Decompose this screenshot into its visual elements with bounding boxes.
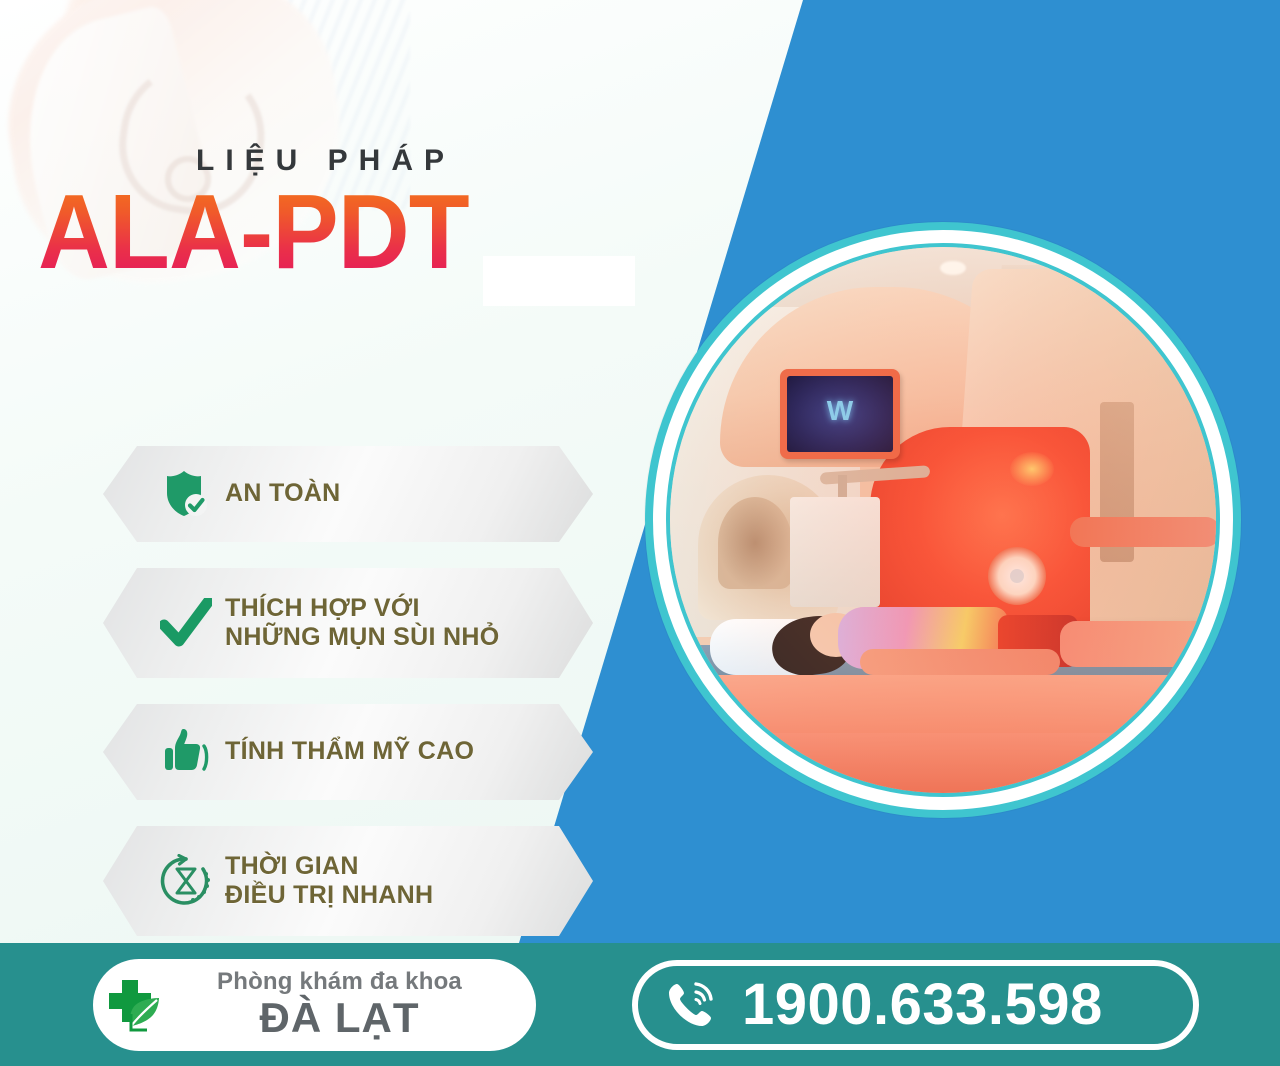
feature-badge-label: TÍNH THẨM MỸ CAO <box>225 737 474 767</box>
clinic-subtitle: Phòng khám đa khoa <box>217 969 462 995</box>
photo-machine-dome <box>720 287 1050 467</box>
headline-kicker: LIỆU PHÁP <box>196 146 660 176</box>
feature-badge-line-1: THÍCH HỢP VỚI <box>225 594 420 622</box>
shield-check-icon <box>147 469 225 519</box>
feature-badge-list: AN TOÀN THÍCH HỢP VỚI NHỮNG MỤN SÙI NHỎ <box>103 446 593 962</box>
monitor-glyph: W <box>827 395 853 427</box>
photo-patient-hair <box>768 612 853 680</box>
monitor-screen: W <box>787 376 893 452</box>
clinic-name: ĐÀ LẠT <box>260 996 420 1040</box>
photo-gantry <box>947 269 1216 649</box>
check-mark-icon <box>147 598 225 648</box>
photo-patient-torso <box>838 607 1008 669</box>
feature-badge-an-toan[interactable]: AN TOÀN <box>103 446 593 542</box>
phone-cta[interactable]: 1900.633.598 <box>632 960 1199 1050</box>
feature-badge-line-2: NHỮNG MỤN SÙI NHỎ <box>225 623 499 651</box>
photo-red-light-wash <box>670 247 1216 793</box>
phone-number: 1900.633.598 <box>742 976 1103 1034</box>
phone-call-icon <box>638 978 742 1032</box>
photo-red-light-panel <box>870 427 1090 647</box>
feature-badge-label: THÍCH HỢP VỚI NHỮNG MỤN SÙI NHỎ <box>225 594 499 653</box>
promo-banner: W LIỆU PHÁP ALA-PDT <box>0 0 1280 1066</box>
photo-patient-face <box>810 613 862 657</box>
feature-badge-line-2: ĐIỀU TRỊ NHANH <box>225 881 433 909</box>
feature-badge-line-1: THỜI GIAN <box>225 852 359 880</box>
photo-scanner-bore-inner <box>718 497 792 589</box>
clinic-text: Phòng khám đa khoa ĐÀ LẠT <box>185 969 536 1039</box>
feature-badge-tham-my[interactable]: TÍNH THẨM MỸ CAO <box>103 704 593 800</box>
photo-scanner-bore <box>698 475 838 620</box>
photo-patient <box>710 587 1150 682</box>
photo-shadow <box>970 627 1216 673</box>
photo-pillow <box>710 619 820 675</box>
photo-mat-lower <box>670 733 1216 793</box>
treatment-photo: W <box>670 247 1216 793</box>
photo-equipment-cart <box>790 497 880 607</box>
photo-ceiling-light <box>940 261 966 275</box>
photo-patient-legs <box>1060 621 1216 667</box>
photo-patient-arms <box>860 649 1060 675</box>
thumbs-up-icon <box>147 727 225 777</box>
footer-bar: Phòng khám đa khoa ĐÀ LẠT 1900.633.598 <box>0 943 1280 1066</box>
photo-mat-upper <box>670 675 1216 745</box>
feature-badge-label: THỜI GIAN ĐIỀU TRỊ NHANH <box>225 852 433 911</box>
photo-patient-shorts <box>998 615 1078 667</box>
photo-monitor: W <box>780 369 900 459</box>
feature-badge-label: AN TOÀN <box>225 479 341 509</box>
photo-table <box>670 645 1216 705</box>
hourglass-clock-icon <box>147 854 225 908</box>
ghost-skin <box>51 0 258 109</box>
photo-monitor-arm <box>820 465 931 485</box>
photo-gantry-slot <box>1100 402 1134 562</box>
photo-wall <box>670 307 860 637</box>
photo-side-tray <box>1070 517 1216 547</box>
blank-white-block <box>483 256 635 306</box>
photo-emitter-port <box>988 547 1046 605</box>
clinic-branding[interactable]: Phòng khám đa khoa ĐÀ LẠT <box>93 959 536 1051</box>
treatment-photo-ring: W <box>645 222 1241 818</box>
feature-badge-thich-hop[interactable]: THÍCH HỢP VỚI NHỮNG MỤN SÙI NHỎ <box>103 568 593 678</box>
cross-leaf-icon <box>93 974 185 1036</box>
photo-stand-pole <box>838 475 847 605</box>
feature-badge-thoi-gian[interactable]: THỜI GIAN ĐIỀU TRỊ NHANH <box>103 826 593 936</box>
photo-red-glow <box>1010 452 1054 486</box>
